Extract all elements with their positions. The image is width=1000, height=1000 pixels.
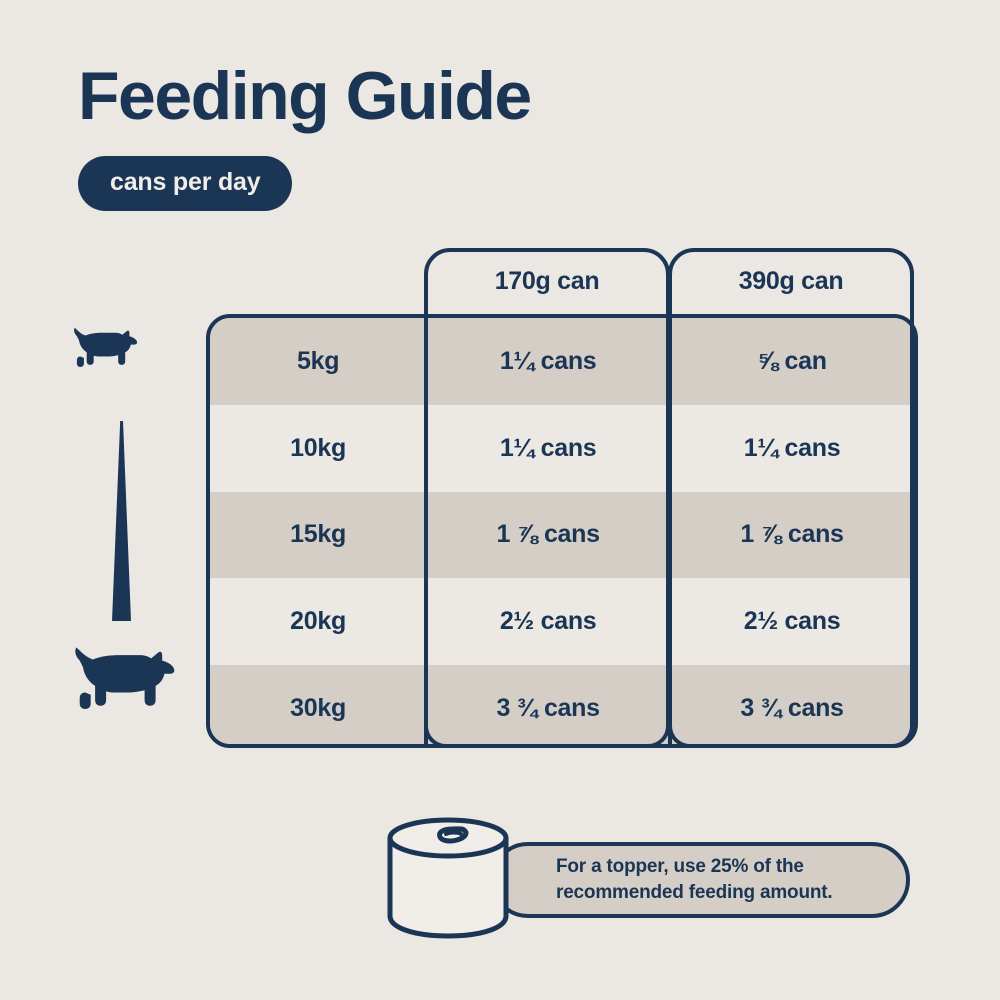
cell-170g: 3 ¾ cans: [426, 694, 670, 723]
page-title: Feeding Guide: [78, 62, 531, 130]
cell-390g: 1 ⅞ cans: [670, 520, 914, 549]
subtitle-pill: cans per day: [78, 156, 292, 211]
column-divider: [424, 314, 428, 748]
cell-170g: 1 ⅞ cans: [426, 520, 670, 549]
dog-silhouette-icon: [72, 643, 182, 711]
table-body: 5kg 1¼ cans ⅝ can 10kg 1¼ cans 1¼ cans 1…: [206, 314, 918, 748]
size-gauge: [72, 325, 182, 755]
cell-170g: 2½ cans: [426, 607, 670, 636]
table-row: 10kg 1¼ cans 1¼ cans: [210, 405, 914, 492]
cell-weight: 5kg: [210, 347, 426, 376]
table-row: 5kg 1¼ cans ⅝ can: [210, 318, 914, 405]
dog-silhouette-icon: [72, 325, 142, 368]
cell-weight: 10kg: [210, 434, 426, 463]
topper-note-box: For a topper, use 25% of the recommended…: [490, 842, 910, 918]
topper-note-text: For a topper, use 25% of the recommended…: [494, 854, 906, 905]
pet-food-can-icon: [380, 812, 525, 944]
cell-390g: 3 ¾ cans: [670, 694, 914, 723]
table-row: 20kg 2½ cans 2½ cans: [210, 578, 914, 665]
cell-weight: 15kg: [210, 520, 426, 549]
column-header-170g: 170g can: [424, 248, 670, 314]
table-row: 30kg 3 ¾ cans 3 ¾ cans: [210, 665, 914, 748]
feeding-table: 5kg 1¼ cans ⅝ can 10kg 1¼ cans 1¼ cans 1…: [206, 248, 918, 760]
column-divider: [668, 314, 672, 748]
cell-390g: 2½ cans: [670, 607, 914, 636]
cell-390g: ⅝ can: [670, 347, 914, 376]
cell-170g: 1¼ cans: [426, 434, 670, 463]
size-increase-wedge-icon: [104, 421, 138, 621]
cell-weight: 30kg: [210, 694, 426, 723]
table-row: 15kg 1 ⅞ cans 1 ⅞ cans: [210, 492, 914, 579]
cell-weight: 20kg: [210, 607, 426, 636]
footer-note: For a topper, use 25% of the recommended…: [380, 812, 920, 952]
column-header-390g: 390g can: [668, 248, 914, 314]
header: Feeding Guide cans per day: [78, 62, 531, 211]
cell-170g: 1¼ cans: [426, 347, 670, 376]
cell-390g: 1¼ cans: [670, 434, 914, 463]
